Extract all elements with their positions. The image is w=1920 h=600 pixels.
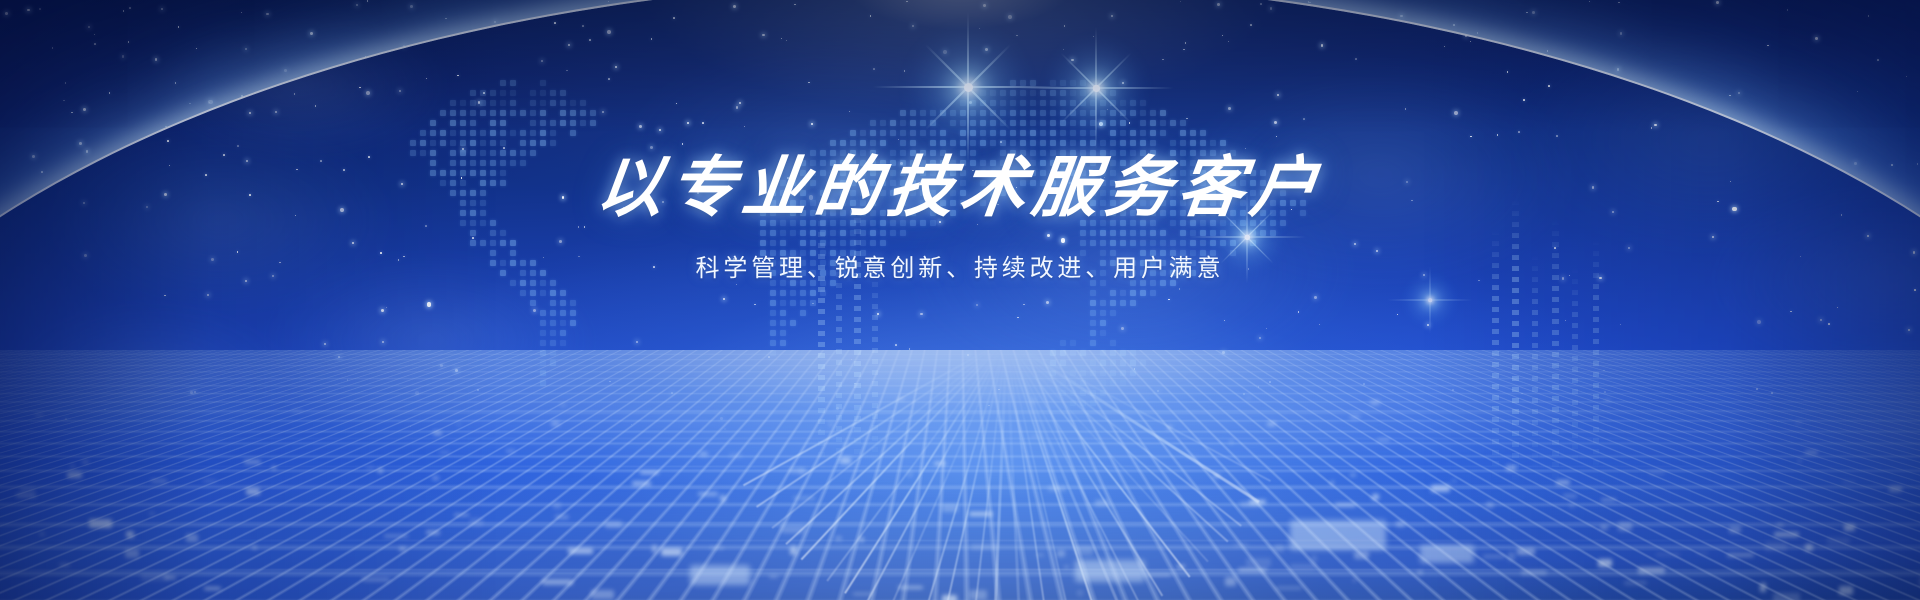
building-light: [125, 549, 139, 558]
building-light: [652, 545, 657, 553]
building-light: [1638, 567, 1665, 574]
building-light: [1146, 574, 1171, 576]
city-road: [756, 350, 1006, 507]
building-light: [720, 495, 726, 502]
building-light: [710, 547, 724, 549]
building-light: [840, 457, 851, 464]
building-light: [1274, 545, 1284, 552]
building-light: [560, 404, 566, 406]
building-light: [1601, 499, 1616, 501]
city-cross-street: [0, 569, 1920, 570]
city-road: [1005, 350, 1125, 600]
building-light: [1618, 522, 1632, 531]
city-road: [993, 350, 1008, 600]
city-road: [1005, 350, 1100, 600]
building-light: [20, 489, 35, 491]
building-light: [1350, 415, 1360, 419]
building-light: [1556, 480, 1570, 485]
building-light: [1225, 577, 1236, 586]
aerial-city-lights: [0, 350, 1920, 600]
city-road: [1006, 350, 1260, 503]
star-field: [0, 0, 1920, 600]
building-light: [1246, 397, 1251, 399]
building-light: [1798, 460, 1801, 462]
building-light: [1827, 537, 1850, 545]
building-light: [1311, 555, 1317, 563]
building-light: [1396, 521, 1405, 527]
building-light: [790, 546, 797, 555]
building-light: [1569, 503, 1575, 508]
building-light: [632, 481, 651, 486]
building-light: [1776, 523, 1784, 527]
city-road: [865, 350, 1007, 600]
flare-core: [1092, 84, 1099, 91]
building-light: [908, 470, 912, 477]
building-light: [942, 595, 957, 600]
building-light: [1889, 486, 1902, 492]
building-light: [1238, 568, 1267, 572]
building-light: [246, 488, 260, 495]
building-light: [1774, 532, 1799, 537]
flare-ray-horizontal: [1018, 87, 1174, 89]
building-light: [829, 422, 833, 427]
building-light: [934, 462, 946, 465]
city-road: [743, 350, 1006, 486]
city-plaza-light: [1290, 520, 1386, 550]
building-light: [1839, 586, 1853, 595]
building-light: [272, 466, 276, 470]
building-light: [551, 421, 560, 426]
building-light: [793, 496, 815, 500]
building-light: [1765, 542, 1787, 551]
flare-ray-diagonal-2: [1061, 53, 1131, 123]
building-light: [1075, 546, 1093, 555]
building-light: [789, 468, 806, 473]
building-light: [1230, 440, 1233, 444]
building-light: [859, 537, 864, 542]
building-light: [1506, 465, 1516, 471]
building-light: [1598, 559, 1612, 567]
building-light: [1267, 422, 1276, 426]
flare-ray-horizontal: [1387, 300, 1473, 301]
horizon-arc: [0, 0, 1920, 600]
building-light: [1452, 480, 1456, 482]
building-light: [1842, 481, 1855, 484]
building-light: [1805, 451, 1818, 454]
flare-ray-horizontal: [873, 86, 1063, 88]
building-light: [1417, 571, 1423, 574]
building-light: [252, 546, 257, 549]
city-glow-floor: [0, 350, 1920, 600]
building-light: [698, 492, 718, 496]
city-plaza-light: [1420, 545, 1474, 563]
building-light: [67, 472, 82, 478]
building-light: [1805, 544, 1813, 551]
edge-vignette: [0, 0, 1920, 600]
building-light: [1246, 558, 1271, 567]
city-road: [1005, 350, 1190, 578]
building-light: [1031, 399, 1036, 403]
building-light: [1483, 555, 1505, 558]
building-light: [1697, 552, 1708, 554]
city-cross-street: [0, 466, 1920, 467]
city-road: [1005, 350, 1142, 600]
building-light: [70, 464, 75, 469]
building-light: [605, 521, 622, 528]
building-light: [1234, 544, 1248, 546]
building-light: [186, 534, 198, 542]
building-light: [799, 468, 804, 475]
building-light: [1766, 509, 1770, 511]
city-cross-street: [0, 540, 1920, 541]
building-light: [82, 461, 89, 463]
building-light: [378, 468, 383, 473]
building-light: [362, 578, 390, 581]
building-light: [1486, 502, 1494, 508]
building-light: [1350, 474, 1356, 476]
building-light: [366, 466, 375, 470]
building-light: [433, 431, 442, 435]
building-light: [1077, 590, 1083, 596]
building-light: [971, 544, 998, 550]
city-plaza-light: [690, 565, 750, 585]
horizon-inner-glow: [0, 0, 1920, 600]
city-road: [1005, 350, 1022, 600]
flare-core: [964, 83, 973, 92]
building-light: [1353, 578, 1356, 582]
building-light: [164, 576, 176, 579]
city-road: [1005, 350, 1241, 527]
banner-headline: 以专业的技术服务客户: [0, 152, 1920, 226]
banner-subheadline: 科学管理、锐意创新、持续改进、用户满意: [0, 248, 1920, 283]
building-light: [1377, 439, 1390, 441]
building-light: [1624, 581, 1647, 585]
building-light: [1290, 564, 1316, 570]
building-light: [553, 502, 561, 509]
flare-ray-diagonal-2: [925, 44, 1011, 130]
building-light: [1354, 551, 1369, 559]
building-light: [542, 579, 573, 585]
building-light: [1604, 399, 1611, 402]
building-light: [1649, 470, 1665, 475]
building-light: [426, 530, 440, 535]
building-light: [1372, 494, 1379, 500]
building-light: [1431, 485, 1450, 492]
building-light: [16, 494, 36, 497]
city-road: [844, 350, 1006, 594]
building-light: [1600, 525, 1608, 530]
building-light: [35, 414, 43, 416]
earth-horizon: [0, 0, 1920, 600]
building-light: [439, 451, 450, 454]
building-light: [555, 515, 569, 519]
city-road: [886, 350, 1006, 600]
building-light: [591, 590, 614, 599]
flare-ray-vertical: [967, 12, 969, 162]
building-light: [1048, 486, 1066, 491]
city-road: [1005, 350, 1074, 600]
building-light: [969, 512, 993, 516]
building-light: [568, 548, 593, 554]
building-light: [1030, 435, 1041, 438]
building-light: [1276, 587, 1302, 589]
building-light: [141, 573, 169, 581]
building-light: [126, 531, 134, 538]
city-cross-street: [0, 438, 1920, 439]
building-light: [1773, 593, 1800, 600]
city-road: [940, 350, 1007, 600]
flare-core: [1428, 298, 1432, 302]
building-light: [1095, 500, 1109, 506]
building-light: [640, 471, 659, 474]
building-light: [1656, 553, 1680, 556]
building-light: [729, 453, 742, 458]
building-light: [454, 514, 469, 516]
building-light: [1795, 420, 1801, 425]
building-light: [897, 398, 904, 400]
building-light: [1330, 481, 1334, 485]
building-light: [1240, 502, 1261, 507]
city-road: [771, 350, 1006, 529]
city-road: [1005, 350, 1163, 596]
building-light: [1844, 524, 1855, 531]
flare-glow: [1043, 35, 1150, 142]
building-light: [151, 480, 167, 482]
building-light: [204, 587, 221, 590]
building-light: [1370, 400, 1380, 405]
building-light: [384, 535, 408, 537]
city-cross-street: [0, 412, 1920, 413]
building-light: [969, 590, 987, 600]
city-plaza-light: [1075, 560, 1145, 582]
building-light: [89, 519, 112, 528]
city-road: [1005, 350, 1208, 562]
building-light: [769, 575, 778, 578]
city-road: [971, 350, 1007, 600]
building-light: [39, 533, 45, 535]
building-light: [661, 548, 682, 556]
building-light: [1335, 503, 1356, 507]
building-light: [1521, 570, 1547, 575]
data-column: [836, 250, 842, 480]
city-road: [785, 350, 1006, 545]
data-column: [1532, 255, 1538, 470]
building-light: [59, 563, 70, 567]
building-light: [699, 452, 708, 456]
building-light: [1517, 548, 1535, 555]
building-light: [781, 526, 805, 533]
building-light: [898, 586, 923, 589]
flare-ray-vertical: [1095, 27, 1097, 150]
building-light: [1036, 554, 1044, 556]
city-cross-street: [0, 522, 1920, 523]
flare-ray-diagonal-1: [1061, 53, 1131, 123]
city-road: [826, 350, 1006, 581]
nebula-haze: [0, 0, 1920, 600]
building-light: [457, 423, 461, 425]
city-road: [1005, 350, 1228, 542]
building-light: [1186, 456, 1198, 458]
city-road: [1005, 350, 1050, 600]
building-light: [399, 547, 406, 551]
building-light: [1167, 425, 1172, 430]
hero-banner: 以专业的技术服务客户 科学管理、锐意创新、持续改进、用户满意: [0, 0, 1920, 600]
building-light: [835, 536, 842, 541]
building-light: [942, 504, 958, 512]
building-light: [244, 460, 261, 464]
building-light: [1729, 526, 1741, 533]
city-road: [801, 350, 1007, 560]
banner-copy: 以专业的技术服务客户 科学管理、锐意创新、持续改进、用户满意: [0, 152, 1920, 283]
building-light: [1760, 583, 1766, 592]
building-light: [853, 593, 873, 595]
building-light: [1064, 566, 1069, 568]
building-light: [506, 450, 515, 452]
flare-glow: [903, 22, 1033, 152]
building-light: [432, 476, 439, 480]
building-light: [1213, 474, 1220, 478]
city-road: [1005, 350, 1270, 482]
building-light: [292, 409, 302, 412]
city-road: [920, 350, 1007, 600]
building-light: [203, 480, 216, 482]
data-column: [1572, 268, 1578, 468]
building-light: [1249, 500, 1266, 504]
city-cross-street: [0, 488, 1920, 489]
building-light: [1057, 550, 1065, 557]
building-light: [1563, 494, 1577, 498]
building-light: [470, 518, 483, 526]
flare-ray-diagonal-1: [925, 44, 1011, 130]
building-light: [149, 512, 155, 515]
building-light: [1727, 553, 1754, 557]
data-column: [872, 260, 878, 470]
building-light: [1177, 565, 1185, 568]
building-light: [1508, 552, 1515, 561]
